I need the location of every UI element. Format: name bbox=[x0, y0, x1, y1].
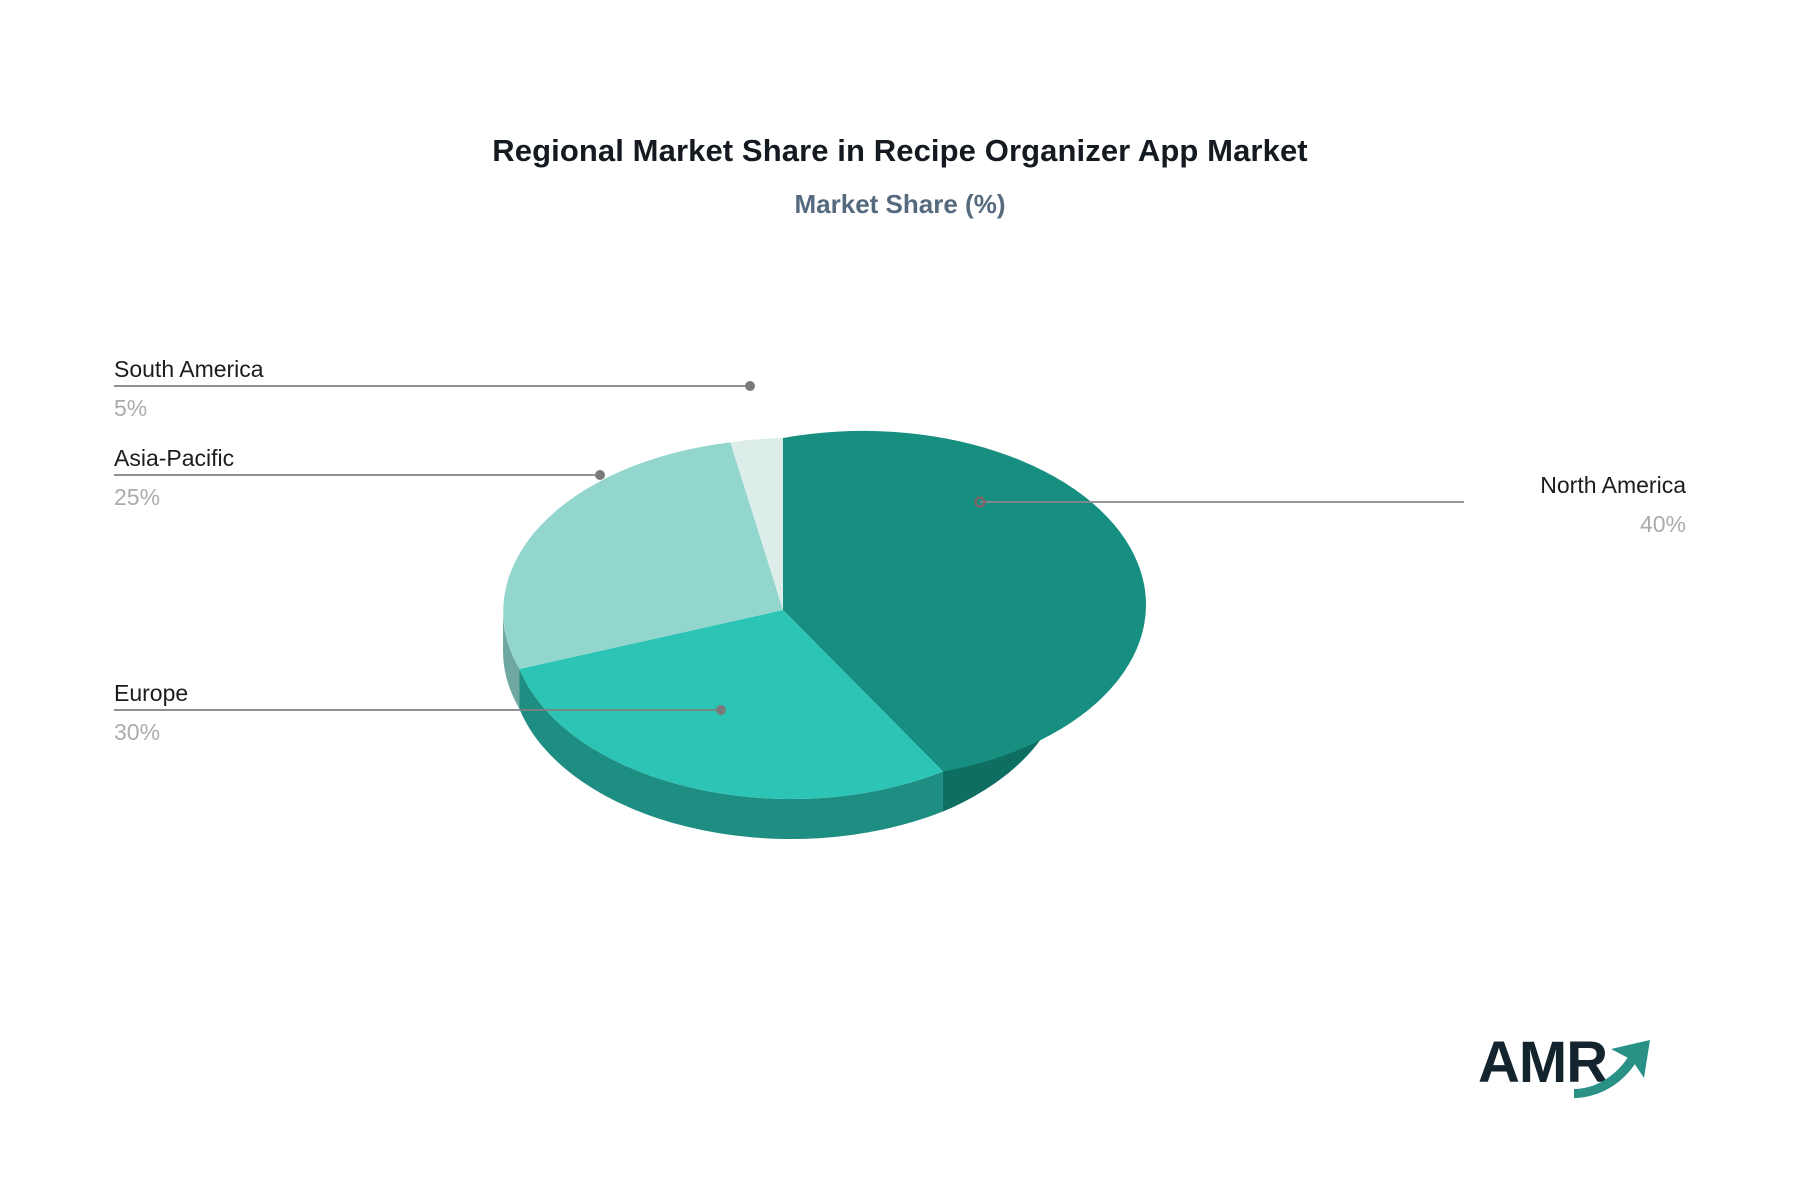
callout-value-north-america: 40% bbox=[1540, 510, 1686, 539]
callout-value-south-america: 5% bbox=[114, 394, 264, 423]
callout-asia-pacific[interactable]: Asia-Pacific 25% bbox=[114, 444, 234, 512]
callout-label-south-america: South America bbox=[114, 355, 264, 384]
pie-top-faces bbox=[503, 431, 1146, 799]
leader-dot-asia-pacific bbox=[595, 470, 605, 480]
amr-logo-text: AMR bbox=[1478, 1030, 1607, 1095]
leader-dot-europe bbox=[716, 705, 726, 715]
callout-south-america[interactable]: South America 5% bbox=[114, 355, 264, 423]
callout-value-europe: 30% bbox=[114, 718, 188, 747]
chart-canvas: Regional Market Share in Recipe Organize… bbox=[0, 0, 1800, 1196]
callout-value-asia-pacific: 25% bbox=[114, 483, 234, 512]
pie-chart bbox=[0, 0, 1800, 1196]
callout-label-europe: Europe bbox=[114, 679, 188, 708]
amr-logo: AMR bbox=[1478, 1026, 1668, 1102]
callout-north-america[interactable]: North America 40% bbox=[1540, 471, 1686, 539]
leader-dot-south-america bbox=[745, 381, 755, 391]
callout-europe[interactable]: Europe 30% bbox=[114, 679, 188, 747]
callout-label-north-america: North America bbox=[1540, 471, 1686, 500]
callout-label-asia-pacific: Asia-Pacific bbox=[114, 444, 234, 473]
